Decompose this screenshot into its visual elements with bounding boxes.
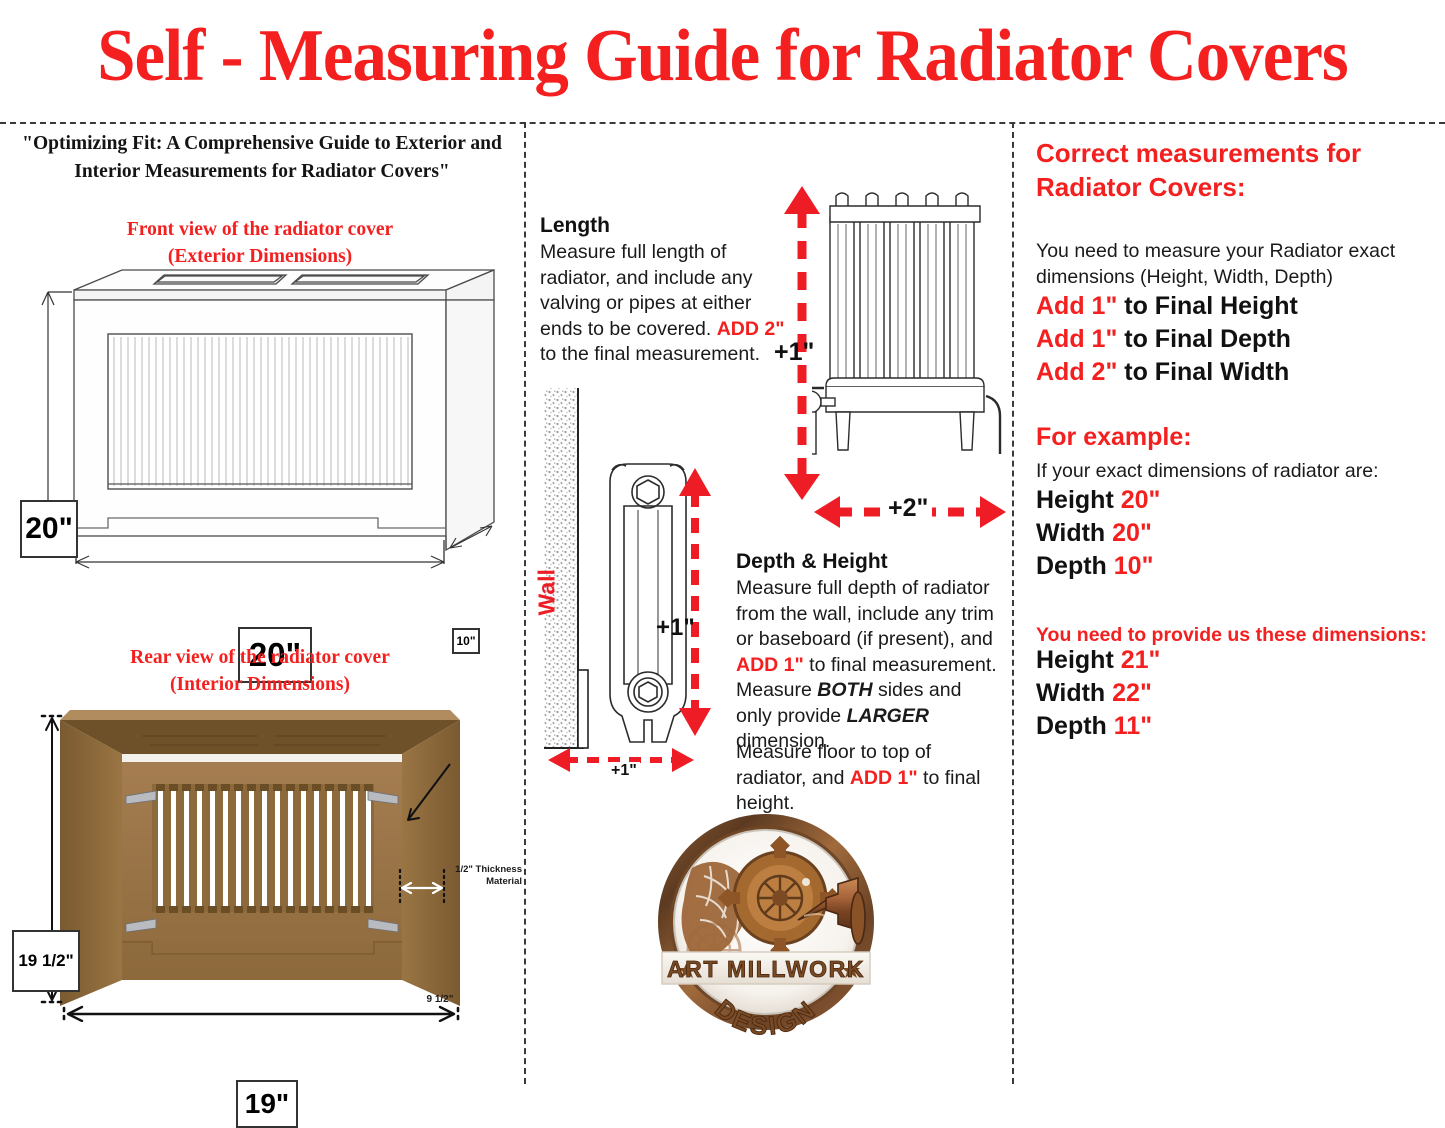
provide-depth: Depth 11" [1036, 710, 1152, 743]
front-view-heading-line1: Front view of the radiator cover [127, 219, 393, 240]
provide-height-label: Height [1036, 646, 1121, 674]
length-body-post: to the final measurement. [540, 343, 760, 365]
example-height-value: 20" [1121, 486, 1161, 514]
art-millwork-design-logo: ART MILLWORK DESIGN [648, 810, 896, 1040]
thickness-note-line1: 1/2" Thickness [455, 864, 522, 875]
depth-body-italic-both: BOTH [817, 679, 872, 701]
depth-body-italic-larger: LARGER [847, 705, 929, 727]
right-heading-line1: Correct measurements for [1036, 138, 1361, 168]
right-intro: You need to measure your Radiator exact … [1036, 238, 1428, 290]
depth-body-1: Measure full depth of radiator from the … [736, 577, 994, 650]
arrow-plus1-height-label: +1" [656, 614, 695, 642]
right-heading: Correct measurements for Radiator Covers… [1036, 136, 1426, 204]
rear-view-heading: Rear view of the radiator cover (Interio… [20, 644, 500, 698]
rear-width-value: 19" [245, 1088, 289, 1120]
provide-width-value: 22" [1112, 679, 1152, 707]
example-heading: For example: [1036, 420, 1192, 454]
front-height-value: 20" [25, 512, 73, 546]
rear-view-heading-line1: Rear view of the radiator cover [130, 647, 390, 668]
arrow-plus1-length-label: +1" [774, 338, 814, 367]
front-height-dim-box: 20" [20, 500, 78, 558]
subtitle: "Optimizing Fit: A Comprehensive Guide t… [8, 130, 516, 186]
example-width-value: 20" [1112, 519, 1152, 547]
provide-depth-label: Depth [1036, 712, 1114, 740]
length-body: Measure full length of radiator, and inc… [540, 240, 788, 368]
example-depth-value: 10" [1114, 552, 1154, 580]
provide-width: Width 22" [1036, 677, 1152, 710]
rule-add-depth-red: Add 1" [1036, 325, 1117, 353]
page-title: Self - Measuring Guide for Radiator Cove… [51, 16, 1395, 96]
panel-left-views: "Optimizing Fit: A Comprehensive Guide t… [0, 122, 524, 1084]
logo-brand-text: ART MILLWORK [667, 956, 865, 982]
thickness-note: 1/2" Thickness Material [448, 864, 522, 888]
rule-add-height: Add 1" to Final Height [1036, 290, 1298, 323]
example-height-label: Height [1036, 486, 1121, 514]
rule-add-width-black: to Final Width [1117, 358, 1289, 386]
rule-add-depth-black: to Final Depth [1117, 325, 1291, 353]
depth-height-body-2: Measure floor to top of radiator, and AD… [736, 740, 1004, 817]
example-width: Width 20" [1036, 517, 1152, 550]
provide-width-label: Width [1036, 679, 1112, 707]
rule-add-width: Add 2" to Final Width [1036, 356, 1289, 389]
wall-label: Wall [534, 586, 561, 616]
rule-add-height-red: Add 1" [1036, 292, 1117, 320]
rear-height-dim-box: 19 1/2" [12, 930, 80, 992]
example-height: Height 20" [1036, 484, 1160, 517]
rear-width-dim-box: 19" [236, 1080, 298, 1128]
radiator-front-elevation [812, 180, 1012, 480]
panel-middle-instructions: Length Measure full length of radiator, … [524, 122, 1012, 1084]
rear-depth-label: 9 1/2" [416, 994, 464, 1006]
depth-body-emphasis-1: ADD 1" [736, 654, 804, 676]
example-depth: Depth 10" [1036, 550, 1153, 583]
depth-height-heading: Depth & Height [736, 550, 888, 574]
rule-add-depth: Add 1" to Final Depth [1036, 323, 1291, 356]
arrow-plus2-width-label: +2" [884, 494, 932, 523]
provide-height-value: 21" [1121, 646, 1161, 674]
panel-right-instructions: Correct measurements for Radiator Covers… [1012, 122, 1445, 1084]
example-intro: If your exact dimensions of radiator are… [1036, 458, 1428, 484]
example-depth-label: Depth [1036, 552, 1114, 580]
right-heading-line2: Radiator Covers: [1036, 172, 1246, 202]
provide-depth-value: 11" [1114, 712, 1152, 740]
arrow-plus1-depth-label: +1" [608, 762, 640, 780]
depth-height-body: Measure full depth of radiator from the … [736, 576, 1000, 755]
provide-height: Height 21" [1036, 644, 1160, 677]
rear-view-drawing [30, 692, 510, 1022]
example-width-label: Width [1036, 519, 1112, 547]
rule-add-width-red: Add 2" [1036, 358, 1117, 386]
rule-add-height-black: to Final Height [1117, 292, 1298, 320]
length-heading: Length [540, 214, 610, 238]
rear-height-value: 19 1/2" [18, 951, 73, 971]
front-view-drawing [26, 262, 516, 582]
thickness-note-line2: Material [486, 876, 522, 887]
depth-body-emphasis-2: ADD 1" [850, 767, 918, 789]
